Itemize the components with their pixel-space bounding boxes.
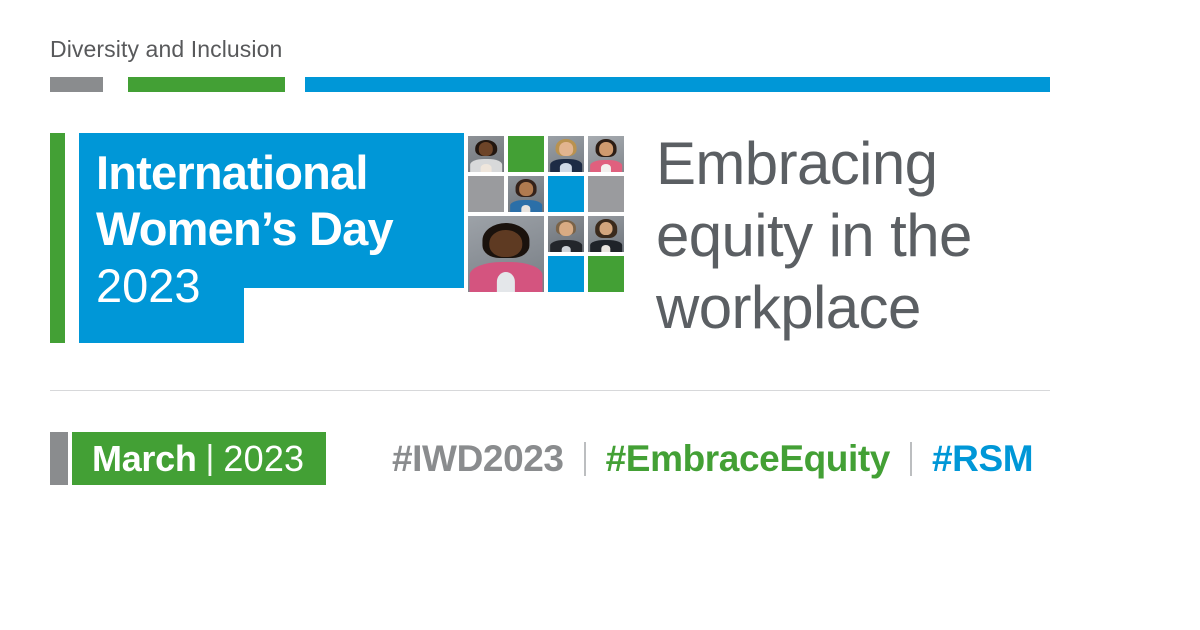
photo-mosaic [468, 136, 624, 292]
blue-color-tile-1 [548, 176, 584, 212]
portrait-photo-4 [508, 176, 544, 212]
iwd-logo-lockup: International Women’s Day 2023 [50, 133, 464, 343]
portrait-photo-1 [468, 136, 504, 172]
hashtag-row: #IWD2023 #EmbraceEquity #RSM [392, 435, 1033, 483]
portrait-photo-7 [588, 216, 624, 252]
green-color-tile-2 [588, 256, 624, 292]
date-month: March [92, 438, 197, 480]
date-badge-gray-accent-bar [50, 432, 68, 485]
blue-color-tile-2 [548, 256, 584, 292]
hashtag-separator-2 [910, 442, 912, 476]
gray-color-tile-1 [468, 176, 504, 212]
hashtag-separator-1 [584, 442, 586, 476]
portrait-photo-6 [548, 216, 584, 252]
brand-rule-green-segment [128, 77, 285, 92]
portrait-photo-3 [588, 136, 624, 172]
brand-rule-gray-segment [50, 77, 103, 92]
date-badge-plate: March | 2023 [72, 432, 326, 485]
gray-color-tile-2 [588, 176, 624, 212]
portrait-photo-2 [548, 136, 584, 172]
date-year: 2023 [223, 438, 304, 480]
logo-text-block: International Women’s Day 2023 [96, 133, 476, 343]
date-badge: March | 2023 [50, 432, 326, 485]
section-divider [50, 390, 1050, 391]
logo-line-year: 2023 [96, 257, 476, 315]
logo-line-international: International [96, 133, 476, 201]
hashtag-embraceequity[interactable]: #EmbraceEquity [606, 438, 890, 480]
headline: Embracing equity in the workplace [656, 128, 1076, 344]
logo-line-womens-day: Women’s Day [96, 201, 476, 257]
logo-green-accent-bar [50, 133, 65, 343]
green-color-tile-1 [508, 136, 544, 172]
category-eyebrow: Diversity and Inclusion [50, 36, 282, 63]
date-separator: | [206, 439, 215, 478]
hashtag-rsm[interactable]: #RSM [932, 438, 1033, 480]
brand-rule [50, 77, 1050, 92]
hashtag-iwd2023[interactable]: #IWD2023 [392, 438, 564, 480]
brand-rule-blue-segment [305, 77, 1050, 92]
portrait-photo-5-large [468, 216, 544, 292]
